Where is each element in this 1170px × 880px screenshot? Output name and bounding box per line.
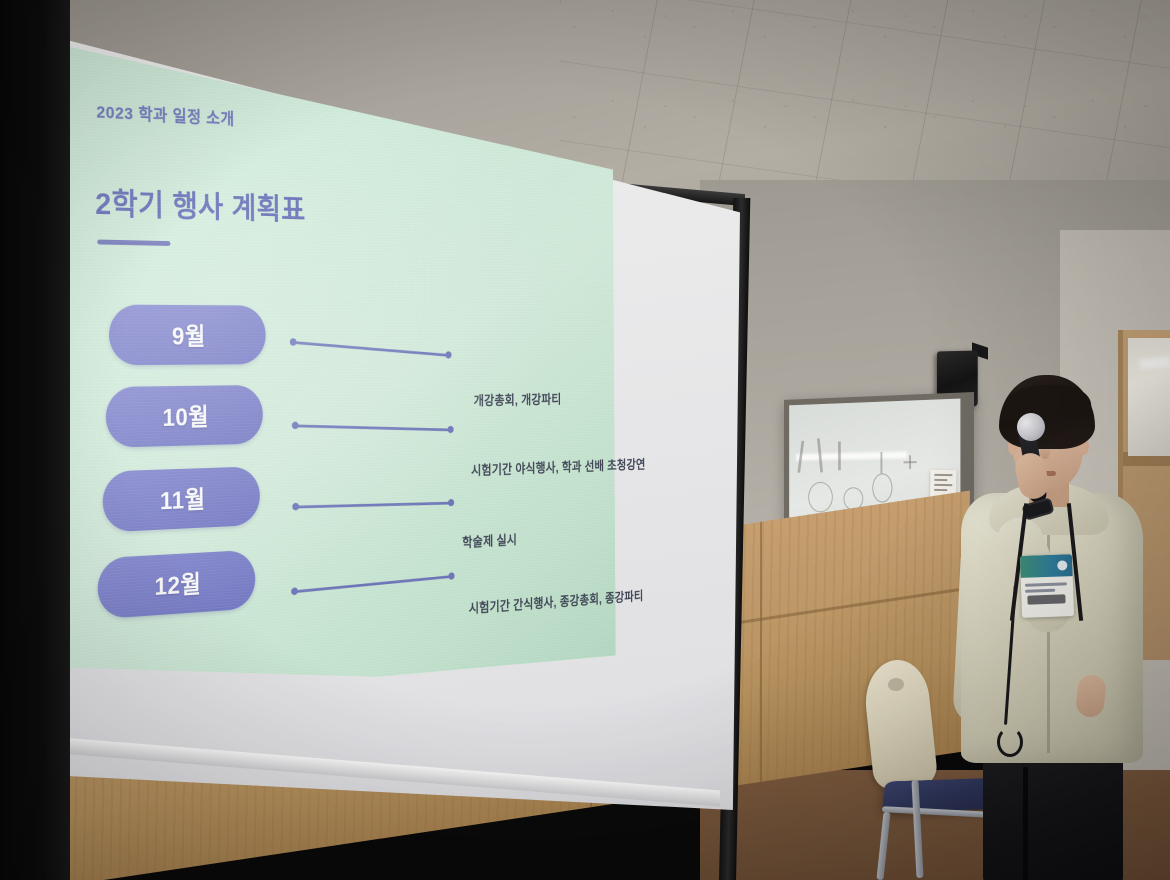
- wood-seam: [760, 522, 762, 782]
- month-label: 9월: [172, 318, 206, 353]
- month-label: 12월: [154, 565, 201, 603]
- badge-name-text: [1027, 594, 1065, 604]
- connector-stroke: [295, 424, 450, 431]
- month-pill-4[interactable]: 12월: [98, 550, 256, 620]
- classroom-photo-scene: 2023 학과 일정 소개 2학기 행사 계획표 9월 개강총회, 개강파티: [0, 0, 1170, 880]
- whiteboard-doodle: [872, 473, 892, 502]
- connector-stroke: [294, 575, 451, 593]
- connector-line-4: [291, 570, 455, 597]
- connector-dot: [448, 572, 454, 580]
- notice-line: [934, 474, 952, 476]
- chair-back: [861, 657, 938, 791]
- presenter: [955, 375, 1145, 880]
- connector-dot: [447, 426, 453, 433]
- whiteboard-mark: [881, 452, 883, 473]
- connector-dot: [448, 499, 454, 506]
- whiteboard-glare: [796, 451, 907, 460]
- notice-line: [934, 489, 947, 491]
- month-pill-2[interactable]: 10월: [106, 385, 263, 448]
- chair-leg: [876, 812, 890, 880]
- connector-stroke: [296, 502, 451, 508]
- connector-line-2: [292, 420, 454, 435]
- month-label: 10월: [162, 398, 209, 434]
- name-badge: [1020, 554, 1074, 618]
- whiteboard-mark: [838, 442, 841, 471]
- event-text-4: 시험기간 간식행사, 종강총회, 종강파티: [469, 586, 644, 617]
- month-label: 11월: [160, 481, 206, 518]
- badge-text-line: [1025, 582, 1067, 586]
- trousers: [983, 747, 1123, 880]
- notice-line: [934, 484, 952, 486]
- badge-text-line: [1025, 589, 1055, 593]
- whiteboard-mark: [909, 455, 911, 469]
- month-pill-1[interactable]: 9월: [109, 305, 266, 366]
- notice-line: [934, 479, 947, 481]
- connector-stroke: [293, 341, 448, 356]
- month-pill-3[interactable]: 11월: [103, 466, 260, 532]
- connector-dot: [445, 351, 452, 359]
- connector-line-1: [289, 336, 451, 360]
- whiteboard-doodle: [808, 482, 833, 513]
- connector-line-3: [292, 497, 454, 512]
- leg-seam: [1023, 767, 1028, 880]
- screen-left-dark-edge: [0, 0, 70, 880]
- hoodie-drawstring: [997, 727, 1023, 757]
